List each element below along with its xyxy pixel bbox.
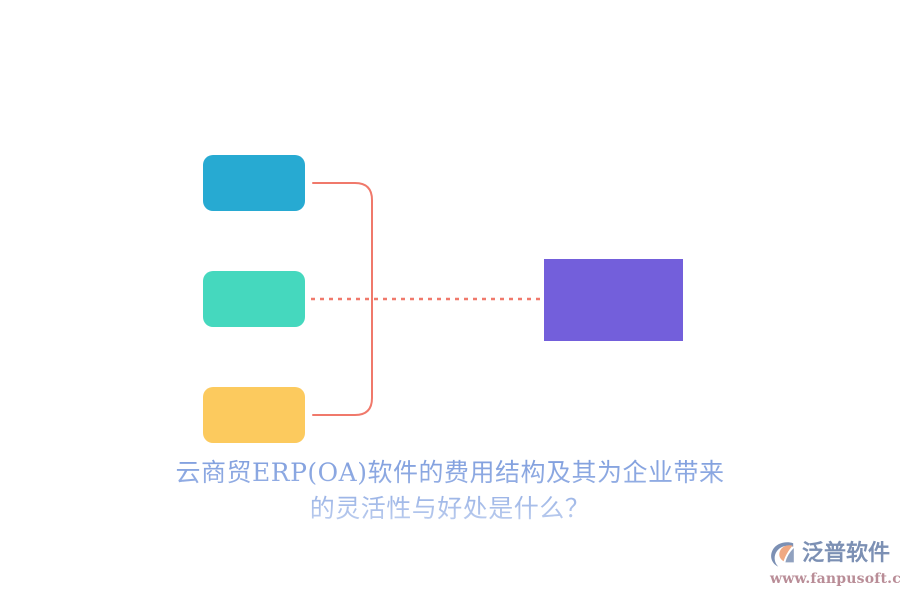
brand-watermark: 泛普软件 www.fanpusoft.com xyxy=(768,538,892,590)
connector-blue-to-trunk xyxy=(313,183,372,299)
diagram-node-purple[interactable] xyxy=(544,259,683,341)
diagram-node-green[interactable] xyxy=(203,271,305,327)
fanpu-logo-icon xyxy=(768,539,798,569)
brand-wordmark: 泛普软件 xyxy=(802,539,890,569)
diagram-node-blue[interactable] xyxy=(203,155,305,211)
connector-yellow-to-trunk xyxy=(313,299,372,415)
diagram-canvas: 云商贸ERP(OA)软件的费用结构及其为企业带来 的灵活性与好处是什么？ 泛普软… xyxy=(0,0,900,600)
diagram-node-yellow[interactable] xyxy=(203,387,305,443)
brand-url: www.fanpusoft.com xyxy=(770,571,892,587)
page-title: 云商贸ERP(OA)软件的费用结构及其为企业带来 的灵活性与好处是什么？ xyxy=(0,455,900,527)
